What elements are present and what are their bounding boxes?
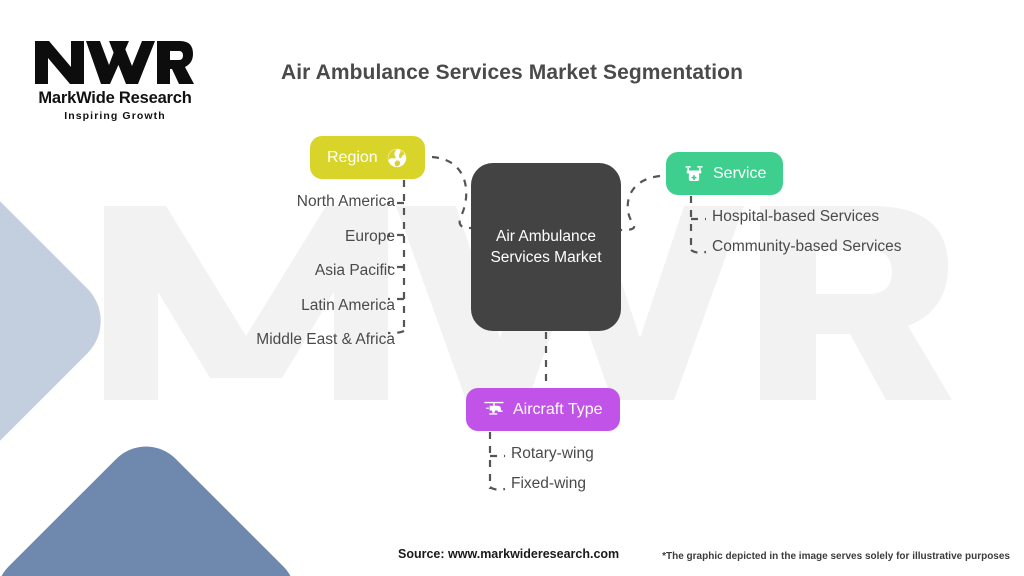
branch-badge-region[interactable]: Region <box>310 136 425 179</box>
source-text: Source: www.markwideresearch.com <box>398 547 619 561</box>
connector-region-center <box>432 157 471 228</box>
connector-aircraft-leaf-1 <box>490 487 505 490</box>
branch-item-service-0: Hospital-based Services <box>712 208 972 226</box>
medical-aircraft-icon <box>683 163 705 185</box>
branch-label-service: Service <box>713 165 766 183</box>
branch-items-service: Hospital-based Services Community-based … <box>712 208 972 268</box>
branch-items-aircraft-type: Rotary-wing Fixed-wing <box>511 445 711 505</box>
branch-item-region-1: Europe <box>180 228 395 246</box>
branch-item-region-4: Middle East & Africa <box>180 331 395 349</box>
branch-items-region: North America Europe Asia Pacific Latin … <box>180 193 395 366</box>
disclaimer-text: *The graphic depicted in the image serve… <box>662 551 1010 562</box>
connector-service-center <box>621 176 660 230</box>
branch-item-aircraft-type-1: Fixed-wing <box>511 475 711 493</box>
branch-item-region-3: Latin America <box>180 297 395 315</box>
branch-label-region: Region <box>327 149 378 167</box>
helicopter-icon <box>483 399 505 421</box>
infographic-canvas: MarkWide Research Inspiring Growth Air A… <box>0 0 1024 576</box>
branch-item-service-1: Community-based Services <box>712 238 972 256</box>
branch-badge-aircraft-type[interactable]: Aircraft Type <box>466 388 620 431</box>
globe-icon <box>386 147 408 169</box>
branch-badge-service[interactable]: Service <box>666 152 783 195</box>
connector-service-leaf-1 <box>691 250 706 253</box>
center-node: Air Ambulance Services Market <box>471 163 621 331</box>
branch-item-region-0: North America <box>180 193 395 211</box>
branch-item-aircraft-type-0: Rotary-wing <box>511 445 711 463</box>
branch-label-aircraft-type: Aircraft Type <box>513 401 603 419</box>
branch-item-region-2: Asia Pacific <box>180 262 395 280</box>
